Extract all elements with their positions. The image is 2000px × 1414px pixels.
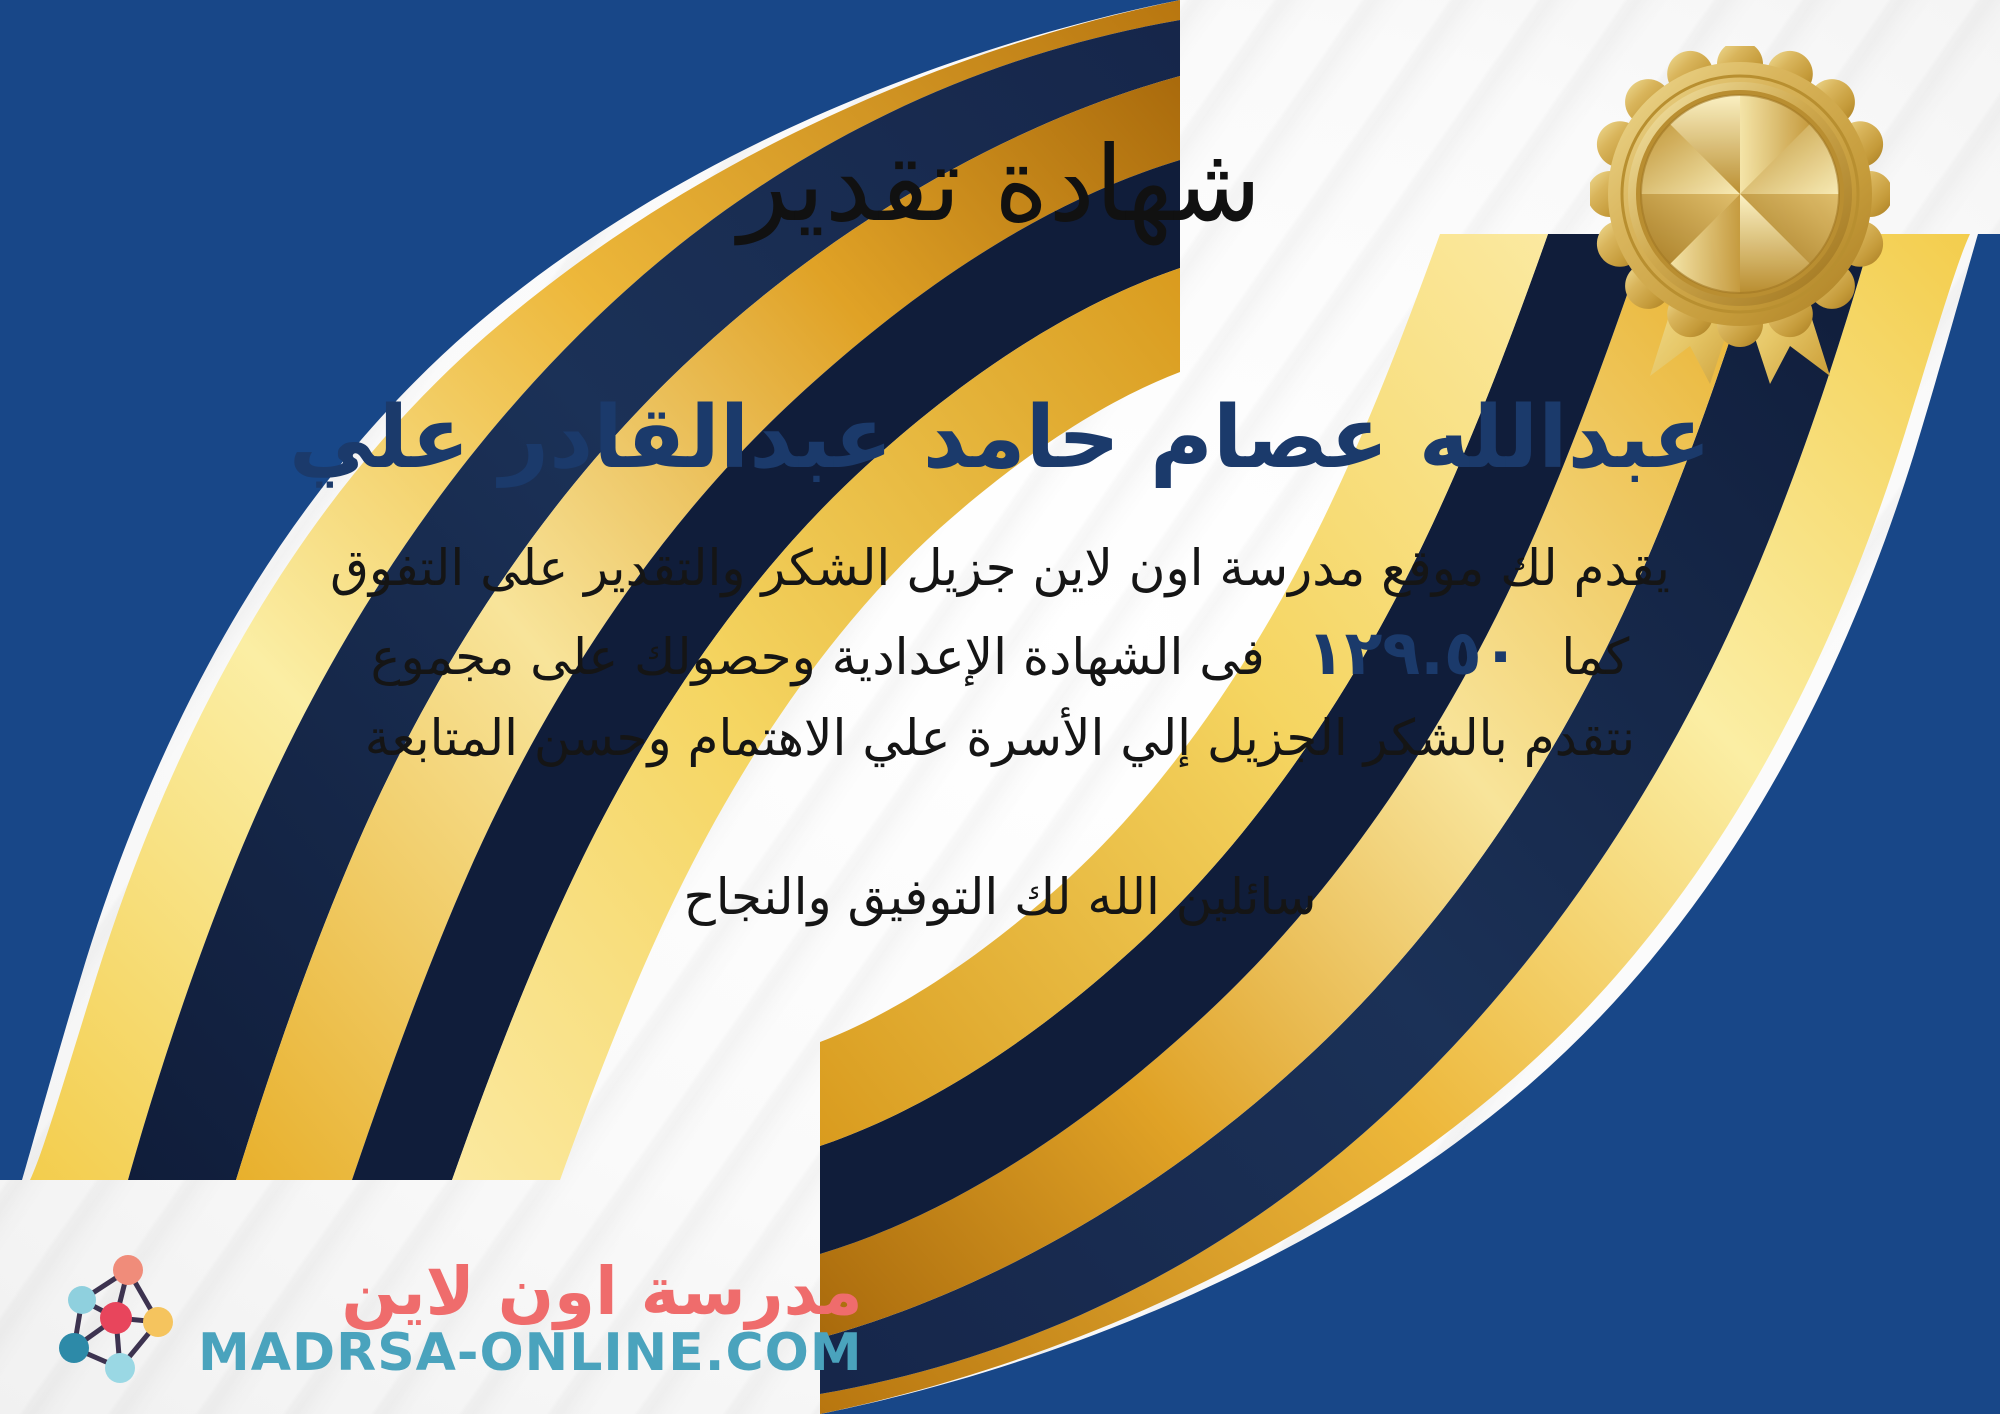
gold-medal-rosette-icon xyxy=(1590,46,1890,386)
network-nodes-icon xyxy=(34,1244,184,1394)
certificate-canvas: شهادة تقدير عبدالله عصام حامد عبدالقادر … xyxy=(0,0,2000,1414)
brand-text-stack: مدرسة اون لاين MADRSA-ONLINE.COM xyxy=(198,1257,863,1381)
brand-logo[interactable]: مدرسة اون لاين MADRSA-ONLINE.COM xyxy=(34,1244,863,1394)
brand-domain: MADRSA-ONLINE.COM xyxy=(198,1326,863,1381)
brand-name-arabic: مدرسة اون لاين xyxy=(341,1257,862,1326)
